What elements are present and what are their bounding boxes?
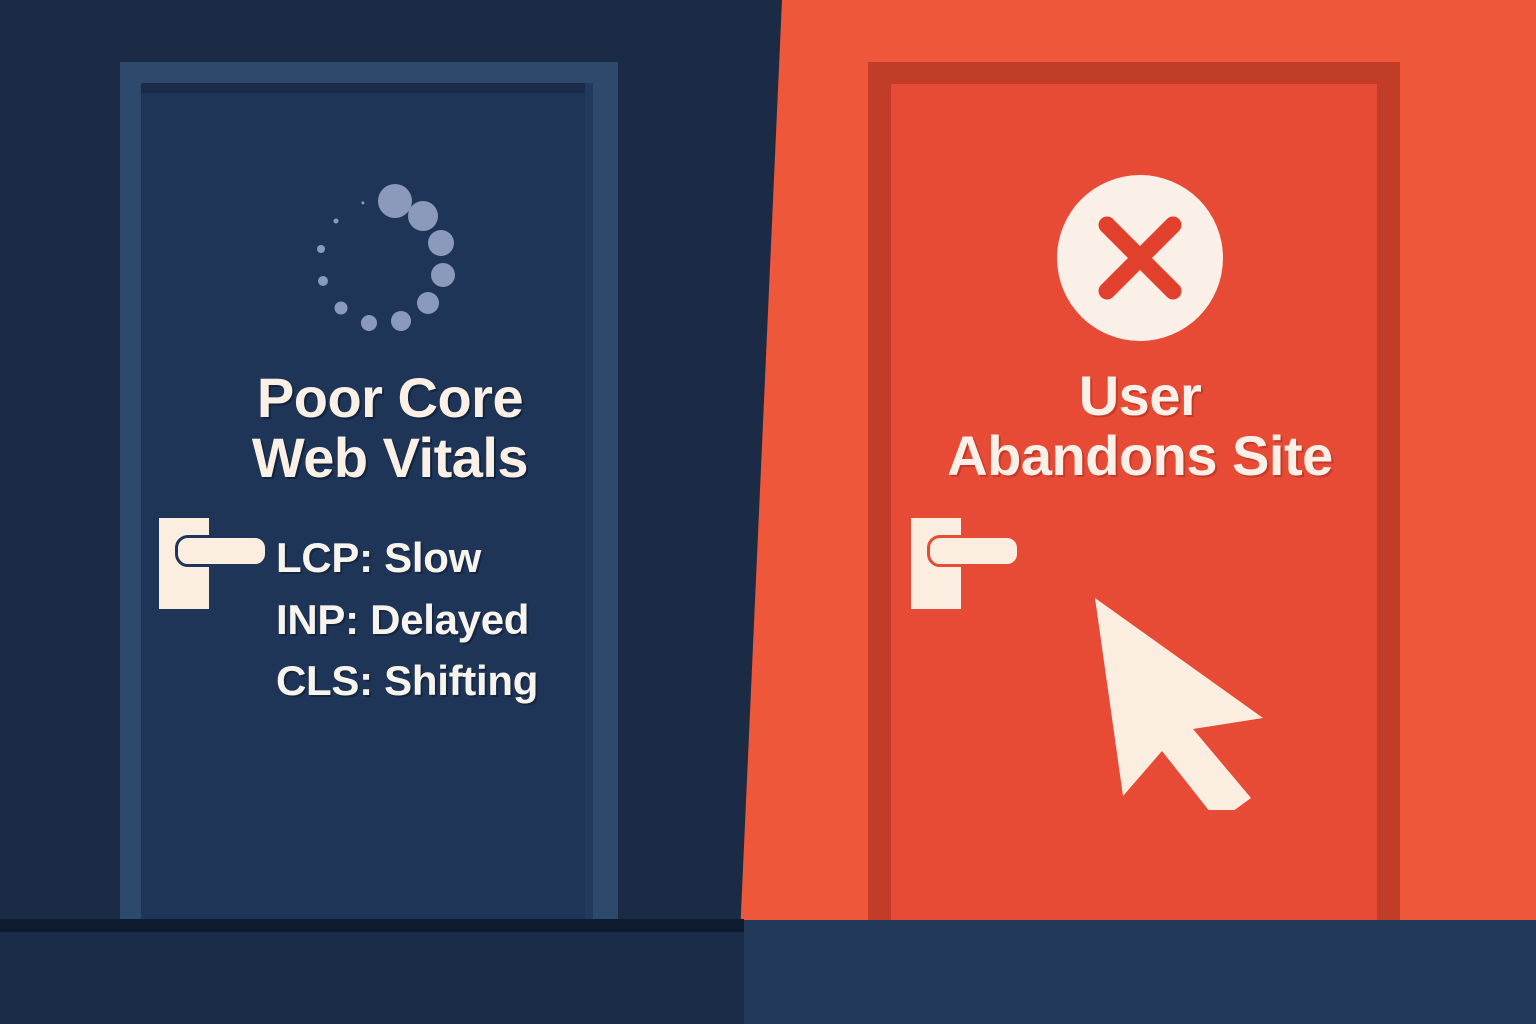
metric-lcp: LCP: Slow xyxy=(276,527,576,589)
spinner-dot xyxy=(428,230,454,256)
spinner-dot xyxy=(431,263,455,287)
page-title-right: User Abandons Site xyxy=(895,366,1385,487)
page-title-left: Poor Core Web Vitals xyxy=(170,368,610,489)
illustration-scene: Poor Core Web Vitals LCP: Slow INP: Dela… xyxy=(0,0,1536,1024)
metric-cls: CLS: Shifting xyxy=(276,650,576,712)
spinner-dot xyxy=(408,201,438,231)
spinner-dot xyxy=(378,184,412,218)
spinner-dot xyxy=(318,276,328,286)
red-door-handle-icon[interactable] xyxy=(911,518,1021,609)
left-floor xyxy=(0,932,744,1024)
spinner-dot xyxy=(333,218,338,223)
spinner-dot xyxy=(361,315,377,331)
core-web-vitals-metrics-list: LCP: Slow INP: Delayed CLS: Shifting xyxy=(276,527,576,712)
left-floor-edge xyxy=(0,919,744,933)
blue-door-top-shadow xyxy=(141,83,585,93)
spinner-dot xyxy=(417,292,439,314)
handle-lever xyxy=(175,535,268,567)
spinner-dot xyxy=(391,311,411,331)
handle-lever xyxy=(927,535,1020,567)
metric-inp: INP: Delayed xyxy=(276,589,576,651)
x-circle-icon xyxy=(1057,175,1223,341)
right-floor xyxy=(742,920,1536,1024)
blue-door-handle-icon[interactable] xyxy=(159,518,269,609)
spinner-dot xyxy=(361,201,364,204)
loading-spinner-icon xyxy=(310,190,454,334)
spinner-dot xyxy=(317,245,325,253)
blue-door-gap xyxy=(585,83,593,920)
mouse-cursor-icon xyxy=(1085,590,1285,810)
spinner-dot xyxy=(334,302,347,315)
